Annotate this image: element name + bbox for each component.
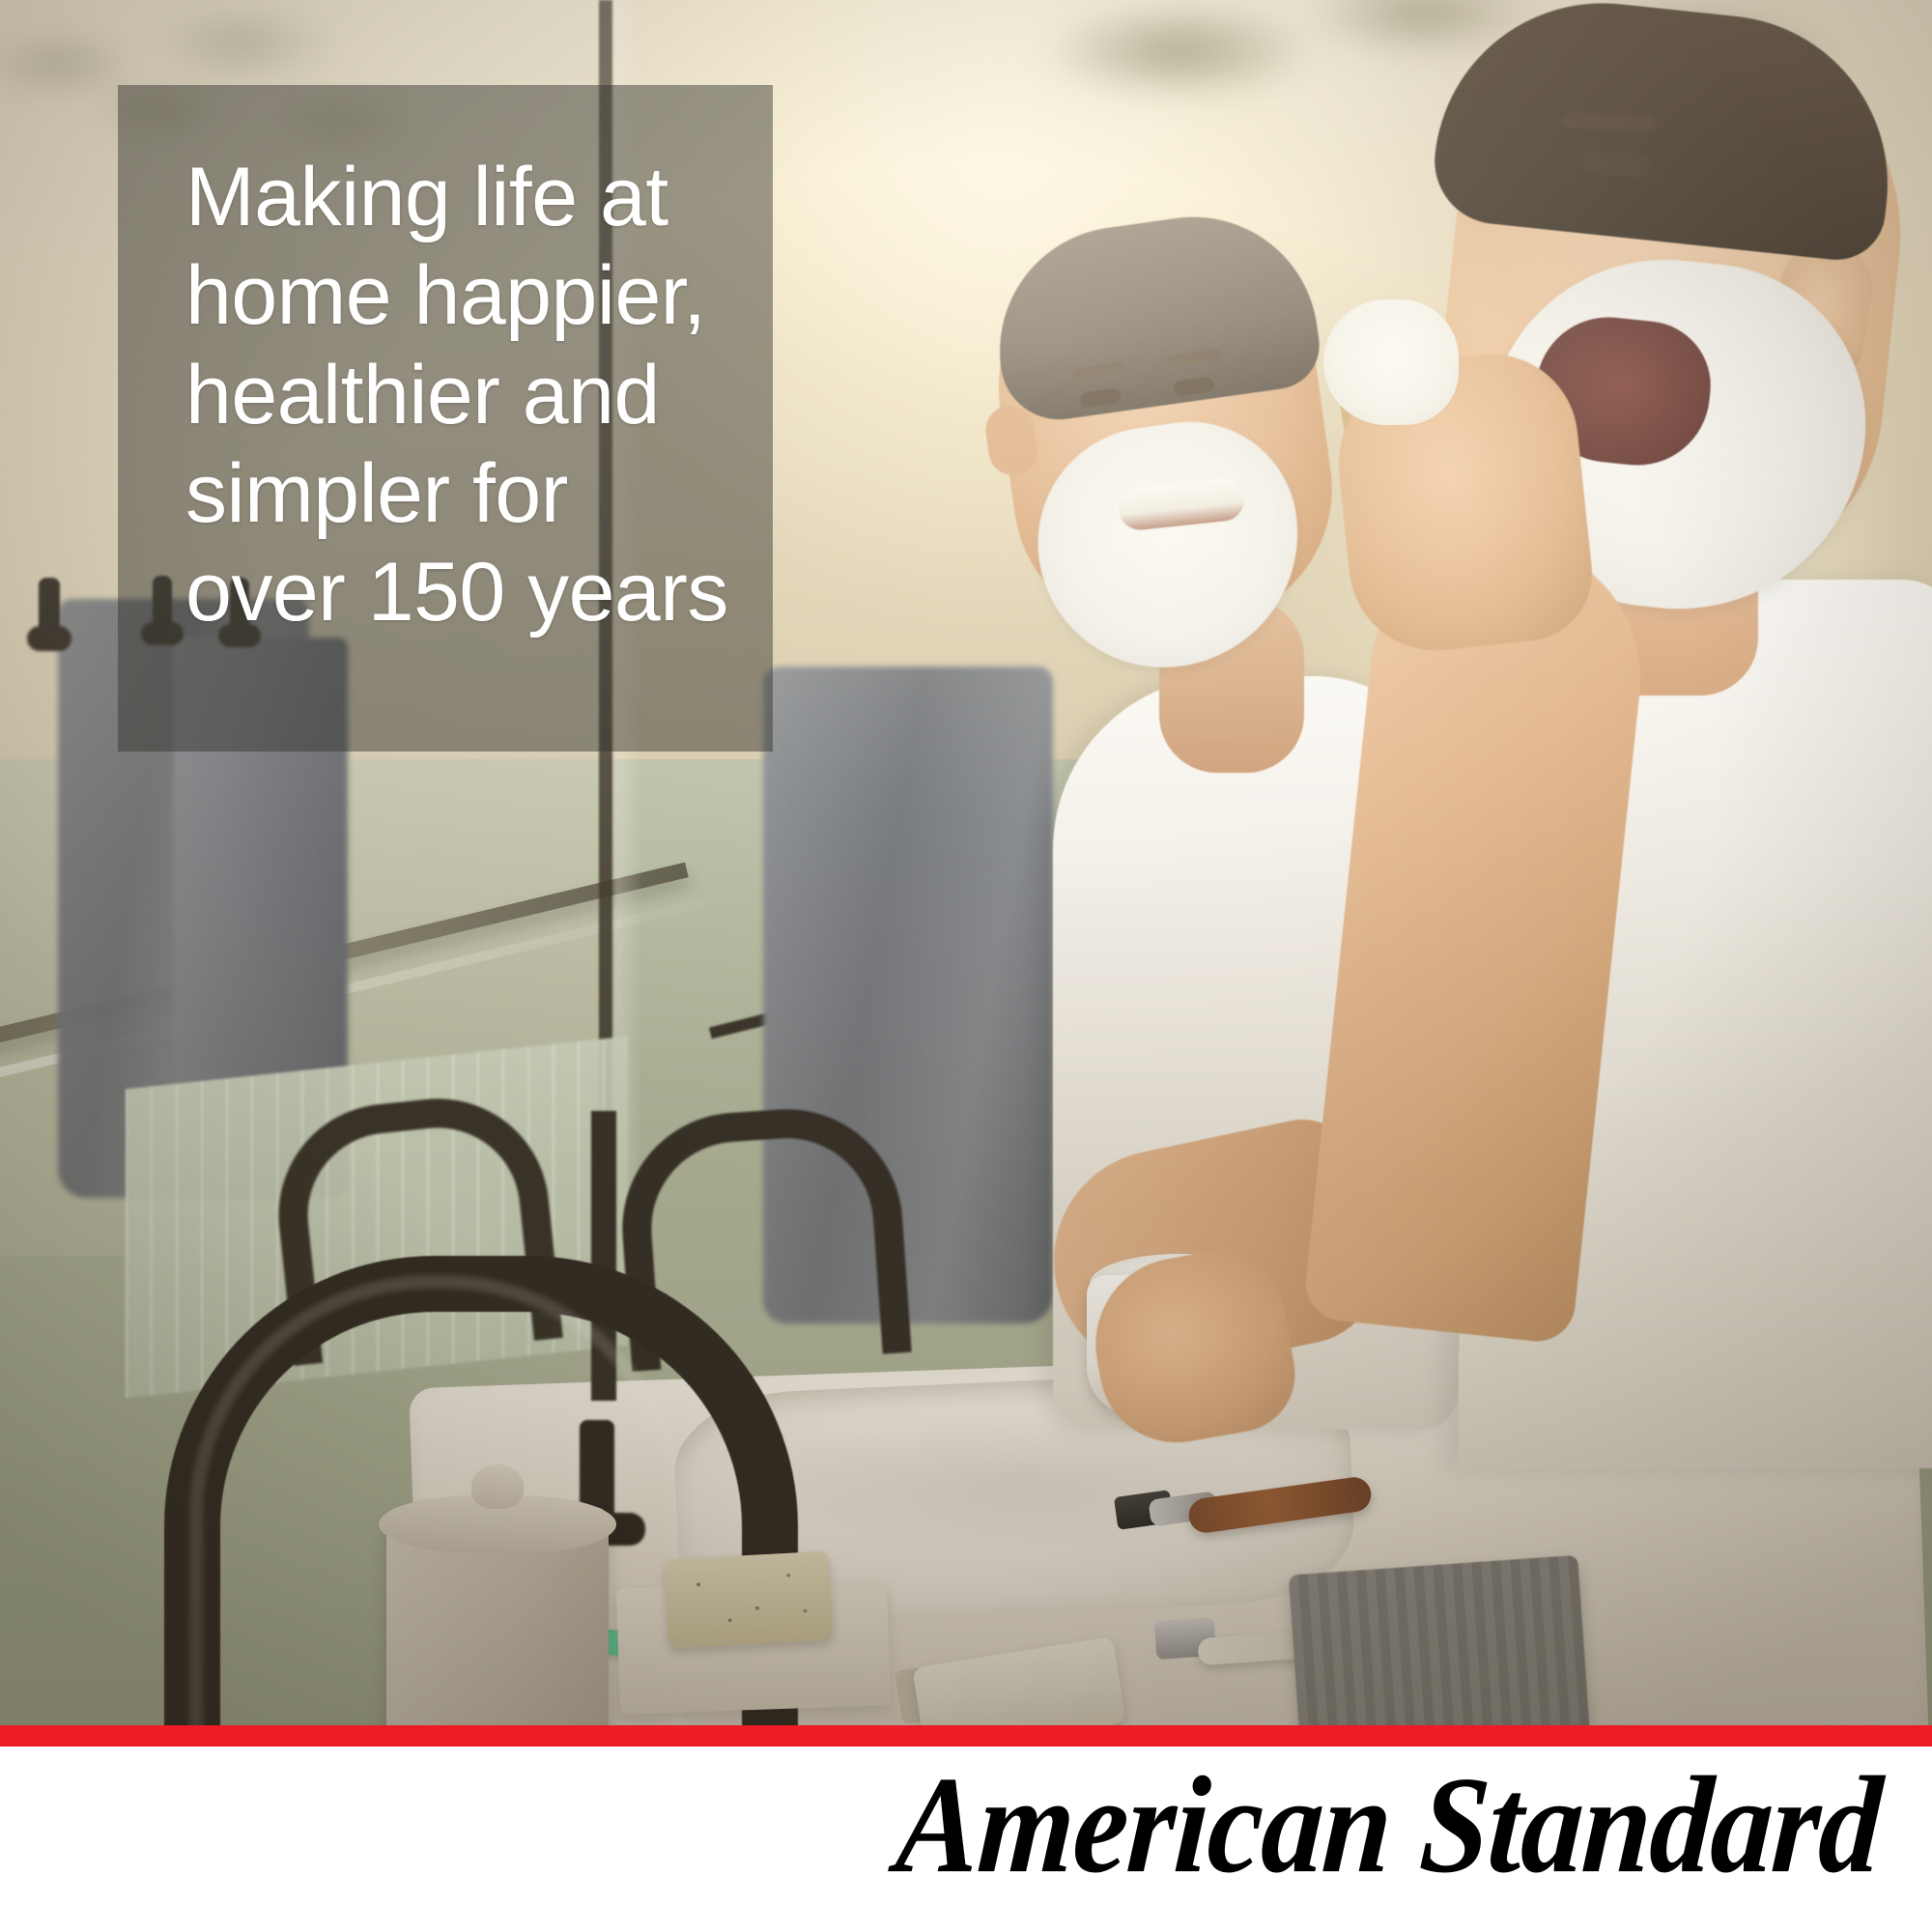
shaving-brush-foam [1323, 299, 1459, 425]
son-eye [1581, 151, 1651, 179]
folded-grey-towel [1289, 1555, 1591, 1725]
wall-hook-1-base [27, 626, 71, 651]
son-eyebrow [1563, 112, 1657, 130]
ceramic-canister-knob [471, 1464, 524, 1509]
hero-photo: Making life at home happier, healthier a… [0, 0, 1932, 1725]
logo-footer: American Standard [0, 1747, 1932, 1932]
brand-red-divider-bar [0, 1725, 1932, 1747]
headline-text: Making life at home happier, healthier a… [185, 148, 734, 642]
headline-overlay-panel: Making life at home happier, healthier a… [118, 85, 773, 752]
american-standard-logo: American Standard [893, 1752, 1885, 1898]
soap-speckles [665, 1551, 834, 1649]
american-standard-ad: Making life at home happier, healthier a… [0, 0, 1932, 1932]
